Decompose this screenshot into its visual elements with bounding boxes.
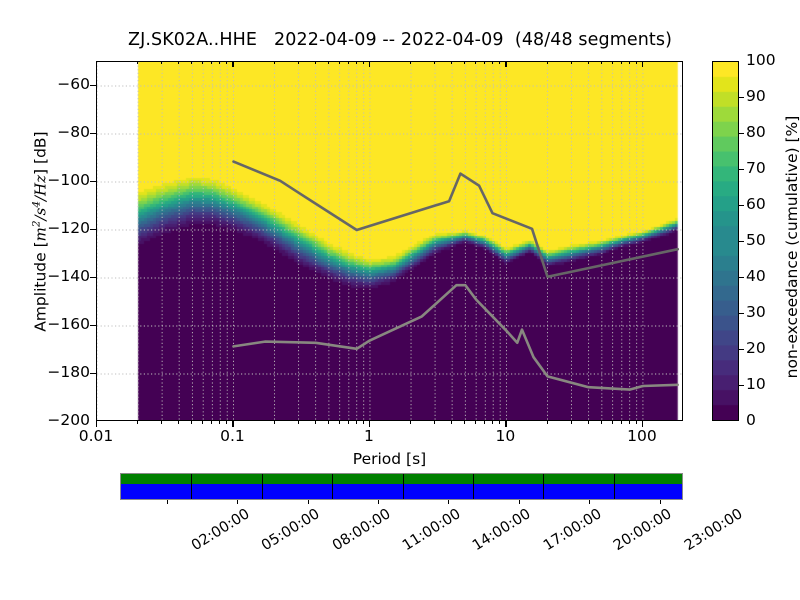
timeline-tick-label: 11:00:00 [400, 506, 464, 554]
x-tick-mark [232, 421, 233, 427]
coverage-segment-divider [191, 474, 192, 499]
x-tick-mark [96, 421, 97, 427]
x-tick-minor [161, 421, 162, 424]
x-tick-minor [484, 421, 485, 424]
x-tick-minor [571, 61, 572, 64]
timeline-tick-mark [589, 500, 590, 504]
x-tick-minor [629, 61, 630, 64]
x-tick-minor [410, 421, 411, 424]
x-tick-minor [315, 421, 316, 424]
x-tick-minor [601, 421, 602, 424]
timeline-tick-label: 05:00:00 [259, 506, 323, 554]
x-tick-minor [219, 61, 220, 64]
timeline-tick-mark [237, 500, 238, 504]
colorbar-tick-label: 0 [746, 413, 756, 429]
x-tick-minor [499, 61, 500, 64]
x-tick-minor [356, 421, 357, 424]
x-tick-minor [202, 61, 203, 64]
colorbar-tick-label: 20 [746, 341, 766, 357]
x-tick-mark [642, 61, 643, 67]
y-axis-label-hz: Hz [32, 175, 50, 196]
x-tick-minor [499, 421, 500, 424]
y-axis-label-m-exp: 2 [30, 220, 42, 227]
x-tick-minor [178, 421, 179, 424]
x-tick-minor [571, 421, 572, 424]
y-tick-mark [90, 277, 96, 278]
x-tick-minor [621, 421, 622, 424]
y-tick-mark [90, 133, 96, 134]
x-tick-mark [369, 421, 370, 427]
colorbar-tick-label: 80 [746, 125, 766, 141]
coverage-segment-divider [543, 474, 544, 499]
coverage-segment-divider [403, 474, 404, 499]
timeline-tick-mark [378, 500, 379, 504]
coverage-segment-divider [473, 474, 474, 499]
timeline-tick-mark [519, 500, 520, 504]
x-tick-minor [137, 421, 138, 424]
x-tick-mark [642, 421, 643, 427]
colorbar-tick-mark [739, 97, 744, 98]
x-tick-minor [202, 421, 203, 424]
x-tick-mark [232, 61, 233, 67]
page-title: ZJ.SK02A..HHE 2022-04-09 -- 2022-04-09 (… [0, 30, 800, 50]
timeline-tick-label: 14:00:00 [470, 506, 534, 554]
x-tick-minor [348, 61, 349, 64]
colorbar-label: non-exceedance (cumulative) [%] [783, 67, 800, 427]
colorbar-tick-mark [739, 133, 744, 134]
x-axis-label: Period [s] [96, 450, 683, 468]
y-tick-mark [90, 229, 96, 230]
x-tick-mark [369, 61, 370, 67]
colorbar-tick-label: 30 [746, 305, 766, 321]
noise-model-nlnm-line [233, 285, 677, 389]
x-tick-label: 10 [465, 427, 545, 445]
timeline-tick-mark [308, 500, 309, 504]
y-axis-label-slash-1: / [32, 215, 50, 220]
x-tick-minor [612, 421, 613, 424]
x-tick-mark [96, 61, 97, 67]
x-tick-minor [434, 61, 435, 64]
x-tick-minor [191, 61, 192, 64]
timeline-tick-label: 23:00:00 [681, 506, 745, 554]
x-tick-minor [328, 61, 329, 64]
colorbar-tick-mark [739, 313, 744, 314]
y-tick-mark [90, 325, 96, 326]
x-tick-minor [547, 421, 548, 424]
timeline-tick-label: 17:00:00 [541, 506, 605, 554]
x-tick-minor [363, 61, 364, 64]
x-tick-label: 0.1 [192, 427, 272, 445]
y-tick-mark [90, 181, 96, 182]
coverage-segment-divider [332, 474, 333, 499]
x-tick-mark [505, 421, 506, 427]
colorbar-tick-mark [739, 277, 744, 278]
x-tick-minor [464, 421, 465, 424]
x-tick-minor [636, 61, 637, 64]
x-tick-minor [588, 421, 589, 424]
timeline-tick-label: 08:00:00 [330, 506, 394, 554]
x-tick-minor [328, 421, 329, 424]
x-tick-minor [601, 61, 602, 64]
colorbar-tick-label: 40 [746, 269, 766, 285]
x-tick-minor [315, 61, 316, 64]
colorbar-tick-label: 90 [746, 89, 766, 105]
x-tick-minor [298, 61, 299, 64]
x-tick-minor [464, 61, 465, 64]
y-tick-mark [90, 373, 96, 374]
colorbar[interactable] [712, 61, 739, 421]
x-tick-minor [191, 421, 192, 424]
x-tick-minor [363, 421, 364, 424]
x-tick-minor [451, 61, 452, 64]
timeline-tick-label: 20:00:00 [611, 506, 675, 554]
x-tick-minor [629, 421, 630, 424]
coverage-segment-divider [614, 474, 615, 499]
timeline-tick-mark [448, 500, 449, 504]
y-axis-label-s-exp: 4 [30, 201, 42, 208]
x-tick-minor [612, 61, 613, 64]
x-tick-minor [636, 421, 637, 424]
x-tick-minor [298, 421, 299, 424]
x-tick-minor [621, 61, 622, 64]
x-tick-minor [348, 421, 349, 424]
x-tick-minor [475, 61, 476, 64]
x-tick-minor [226, 61, 227, 64]
x-tick-minor [219, 421, 220, 424]
x-tick-minor [451, 421, 452, 424]
ppsd-figure: ZJ.SK02A..HHE 2022-04-09 -- 2022-04-09 (… [0, 0, 800, 600]
x-tick-label: 100 [602, 427, 682, 445]
colorbar-tick-mark [739, 205, 744, 206]
timeline-tick-mark [660, 500, 661, 504]
noise-model-nhnm-line [233, 162, 677, 277]
x-tick-minor [484, 61, 485, 64]
y-axis-label-slash-2: / [32, 196, 50, 201]
timeline-tick-label: 02:00:00 [189, 506, 253, 554]
x-tick-minor [274, 421, 275, 424]
x-tick-minor [211, 61, 212, 64]
y-axis-label-suffix: ] [dB] [32, 131, 50, 175]
colorbar-tick-mark [739, 169, 744, 170]
x-tick-minor [588, 61, 589, 64]
colorbar-tick-label: 70 [746, 161, 766, 177]
x-tick-mark [505, 61, 506, 67]
coverage-bar-blue [121, 484, 682, 499]
y-tick-mark [90, 85, 96, 86]
x-tick-minor [492, 421, 493, 424]
x-tick-minor [137, 61, 138, 64]
x-tick-label: 0.01 [56, 427, 136, 445]
ppsd-plot-area[interactable] [96, 61, 683, 421]
y-axis-label-s: s [32, 208, 50, 216]
x-tick-minor [339, 421, 340, 424]
x-tick-minor [178, 61, 179, 64]
x-tick-minor [492, 61, 493, 64]
x-tick-minor [475, 421, 476, 424]
colorbar-gradient [712, 61, 739, 421]
x-tick-minor [274, 61, 275, 64]
colorbar-tick-mark [739, 385, 744, 386]
colorbar-tick-mark [739, 241, 744, 242]
y-axis-label: Amplitude [m2/s4/Hz] [dB] [30, 52, 49, 412]
colorbar-tick-label: 50 [746, 233, 766, 249]
x-tick-minor [339, 61, 340, 64]
x-tick-minor [434, 421, 435, 424]
y-axis-label-prefix: Amplitude [ [32, 241, 50, 331]
noise-model-curves [97, 62, 683, 421]
data-coverage-timeline[interactable] [120, 473, 683, 500]
coverage-bar-green [121, 474, 682, 484]
x-tick-minor [226, 421, 227, 424]
colorbar-tick-label: 60 [746, 197, 766, 213]
colorbar-tick-label: 100 [746, 53, 776, 69]
y-axis-label-m: m [32, 227, 50, 241]
x-tick-minor [547, 61, 548, 64]
x-tick-minor [410, 61, 411, 64]
colorbar-tick-label: 10 [746, 377, 766, 393]
x-tick-minor [161, 61, 162, 64]
coverage-segment-divider [262, 474, 263, 499]
timeline-tick-mark [167, 500, 168, 504]
x-tick-minor [356, 61, 357, 64]
colorbar-tick-mark [739, 349, 744, 350]
x-tick-minor [211, 421, 212, 424]
x-tick-label: 1 [329, 427, 409, 445]
